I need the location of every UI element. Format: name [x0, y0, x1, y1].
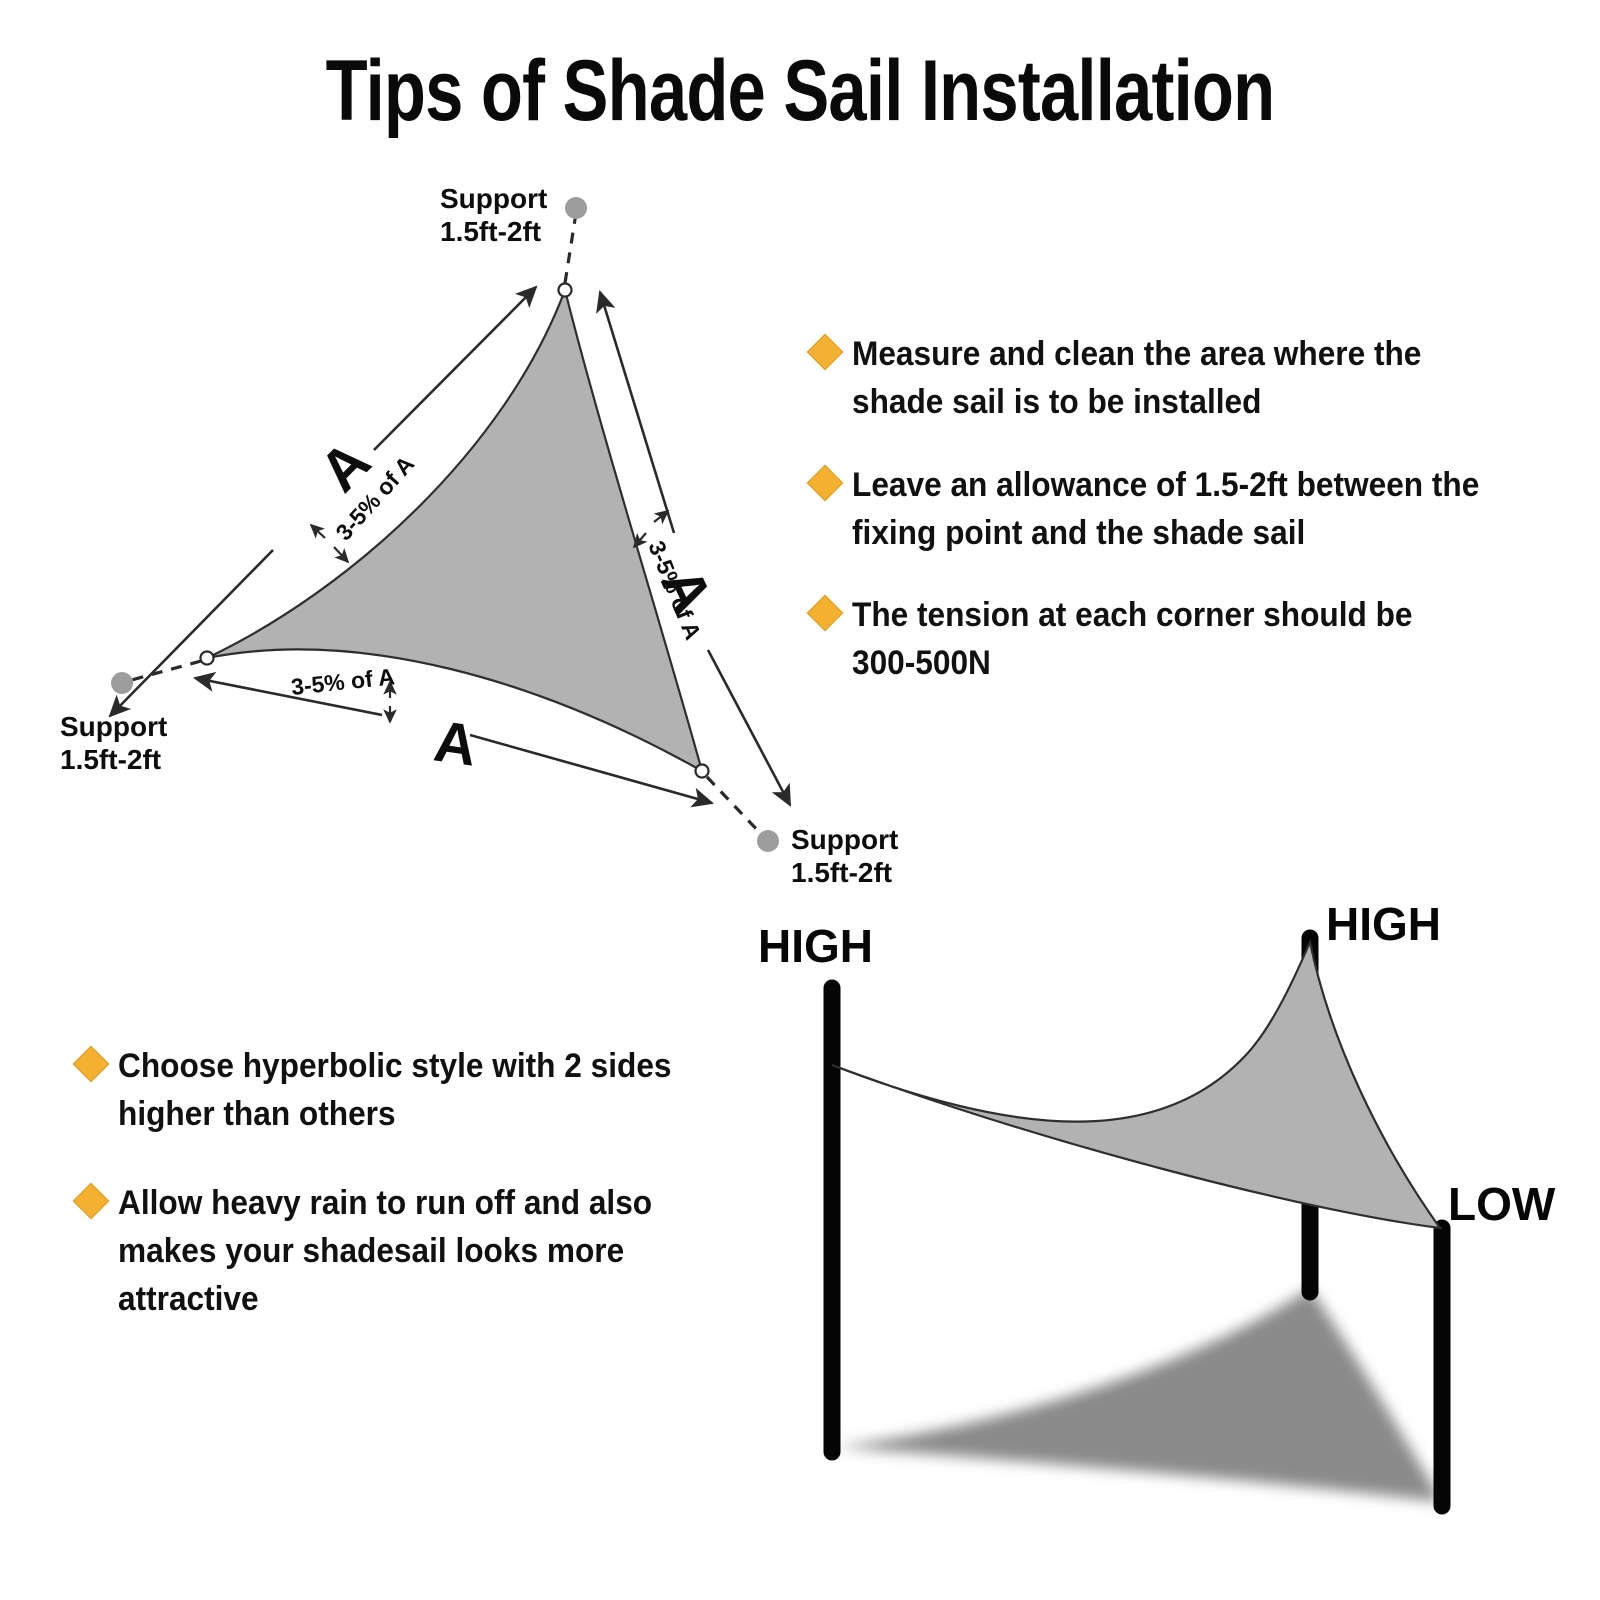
tips-list-left: Choose hyperbolic style with 2 sides hig… — [78, 1042, 778, 1363]
tip-item: The tension at each corner should be 300… — [812, 591, 1532, 688]
eyelet-left — [201, 652, 214, 665]
support-dot-left — [111, 672, 133, 694]
support-dot-bottom-right — [757, 830, 779, 852]
eyelet-bottom-right — [696, 765, 709, 778]
support-top-line1: Support — [440, 183, 547, 214]
tip-item: Measure and clean the area where the sha… — [812, 330, 1532, 427]
label-post-right-high: HIGH — [1326, 898, 1441, 950]
support-label-left: Support 1.5ft-2ft — [60, 711, 167, 775]
diamond-bullet-icon — [807, 334, 844, 371]
infographic-page: Tips of Shade Sail Installation — [0, 0, 1600, 1600]
sail-ground-shadow — [836, 1288, 1442, 1502]
tip-text: Leave an allowance of 1.5-2ft between th… — [852, 461, 1484, 558]
side-bottom-curve-label: 3-5% of A — [290, 663, 396, 700]
tips-list-right: Measure and clean the area where the sha… — [812, 330, 1532, 722]
eyelet-top — [559, 284, 572, 297]
tip-item: Choose hyperbolic style with 2 sides hig… — [78, 1042, 778, 1139]
tip-text: Allow heavy rain to run off and also mak… — [118, 1179, 732, 1324]
tip-text: The tension at each corner should be 300… — [852, 591, 1484, 688]
support-label-bottom-right: Support 1.5ft-2ft — [791, 824, 898, 888]
support-label-top: Support 1.5ft-2ft — [440, 183, 547, 247]
label-post-left-high: HIGH — [758, 920, 873, 972]
dashed-line-top — [565, 213, 576, 283]
support-br-line1: Support — [791, 824, 898, 855]
dashed-line-bottom-right — [707, 777, 762, 835]
side-bottom-length-label: A — [430, 709, 481, 779]
hyperbolic-sail-shape — [832, 942, 1440, 1228]
support-top-line2: 1.5ft-2ft — [440, 216, 541, 247]
tip-item: Allow heavy rain to run off and also mak… — [78, 1179, 778, 1324]
dashed-line-left — [128, 661, 201, 681]
diamond-bullet-icon — [73, 1182, 110, 1219]
tip-text: Measure and clean the area where the sha… — [852, 330, 1484, 427]
diamond-bullet-icon — [73, 1046, 110, 1083]
support-dot-top — [565, 197, 587, 219]
tip-text: Choose hyperbolic style with 2 sides hig… — [118, 1042, 732, 1139]
triangle-sail-shape — [207, 290, 702, 771]
diamond-bullet-icon — [807, 464, 844, 501]
diamond-bullet-icon — [807, 595, 844, 632]
support-left-line1: Support — [60, 711, 167, 742]
page-title: Tips of Shade Sail Installation — [160, 48, 1440, 136]
label-post-low: LOW — [1448, 1178, 1556, 1230]
hyperbolic-sail-diagram: HIGH HIGH LOW — [740, 880, 1600, 1580]
support-left-line2: 1.5ft-2ft — [60, 744, 161, 775]
tip-item: Leave an allowance of 1.5-2ft between th… — [812, 461, 1532, 558]
